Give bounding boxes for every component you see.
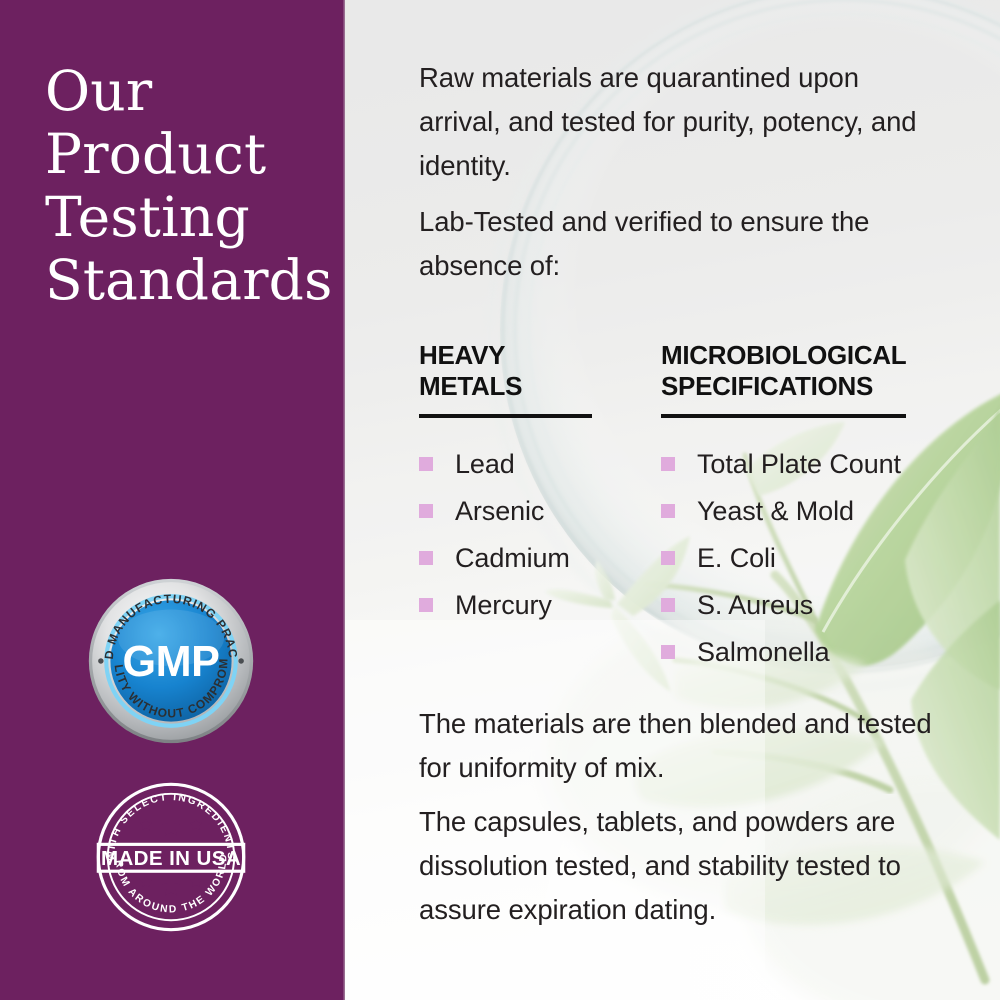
list-item-label: E. Coli <box>697 542 776 574</box>
left-purple-panel: Our Product Testing Standards <box>0 0 345 1000</box>
square-bullet-icon <box>419 457 433 471</box>
square-bullet-icon <box>419 551 433 565</box>
square-bullet-icon <box>661 504 675 518</box>
column-heavy-metals-rule <box>419 414 592 418</box>
product-testing-standards-infographic: Our Product Testing Standards <box>0 0 1000 1000</box>
square-bullet-icon <box>661 551 675 565</box>
usa-band-text: MADE IN USA <box>101 847 241 870</box>
list-item: Arsenic <box>419 487 619 534</box>
square-bullet-icon <box>419 504 433 518</box>
list-item: Yeast & Mold <box>661 487 951 534</box>
column-microbiological-title-line-1: MICROBIOLOGICAL <box>661 340 951 371</box>
usa-stars-top <box>140 818 203 836</box>
gmp-center-text: GMP <box>122 638 219 686</box>
column-heavy-metals: HEAVY METALS Lead Arsenic Cadmium <box>419 340 619 628</box>
column-microbiological-title-line-2: SPECIFICATIONS <box>661 371 951 402</box>
list-item: Salmonella <box>661 628 951 675</box>
usa-stars-bottom <box>140 875 203 895</box>
list-item: Mercury <box>419 581 619 628</box>
list-item-label: Lead <box>455 448 515 480</box>
paragraph-blended: The materials are then blended and teste… <box>419 702 937 790</box>
paragraph-raw-materials: Raw materials are quarantined upon arriv… <box>419 56 941 188</box>
paragraph-dissolution: The capsules, tablets, and powders are d… <box>419 800 937 932</box>
list-item: S. Aureus <box>661 581 951 628</box>
column-microbiological-title: MICROBIOLOGICAL SPECIFICATIONS <box>661 340 951 402</box>
square-bullet-icon <box>661 645 675 659</box>
list-item-label: Total Plate Count <box>697 448 901 480</box>
heavy-metals-list: Lead Arsenic Cadmium Mercury <box>419 440 619 628</box>
square-bullet-icon <box>661 457 675 471</box>
microbiological-list: Total Plate Count Yeast & Mold E. Coli S… <box>661 440 951 675</box>
list-item: Lead <box>419 440 619 487</box>
page-title-line-4: Standards <box>45 249 335 312</box>
list-item-label: S. Aureus <box>697 589 813 621</box>
page-title-line-3: Testing <box>45 186 335 249</box>
square-bullet-icon <box>419 598 433 612</box>
list-item: Total Plate Count <box>661 440 951 487</box>
list-item-label: Arsenic <box>455 495 544 527</box>
list-item-label: Cadmium <box>455 542 570 574</box>
list-item: Cadmium <box>419 534 619 581</box>
column-heavy-metals-title: HEAVY METALS <box>419 340 619 402</box>
gmp-badge-icon: GOOD MANUFACTURING PRACTICE QUALITY WITH… <box>88 578 254 744</box>
column-heavy-metals-title-line-1: HEAVY <box>419 340 619 371</box>
paragraph-lab-tested: Lab-Tested and verified to ensure the ab… <box>419 200 941 288</box>
content-column: Raw materials are quarantined upon arriv… <box>419 0 949 1000</box>
square-bullet-icon <box>661 598 675 612</box>
list-item: E. Coli <box>661 534 951 581</box>
page-title-line-1: Our <box>45 60 335 123</box>
column-heavy-metals-title-line-2: METALS <box>419 371 619 402</box>
made-in-usa-badge-icon: WITH SELECT INGREDIENTS FROM AROUND THE … <box>92 778 250 936</box>
list-item-label: Salmonella <box>697 636 830 668</box>
list-item-label: Mercury <box>455 589 552 621</box>
page-title-line-2: Product <box>45 123 335 186</box>
page-title: Our Product Testing Standards <box>45 60 335 312</box>
column-microbiological: MICROBIOLOGICAL SPECIFICATIONS Total Pla… <box>661 340 951 675</box>
column-microbiological-rule <box>661 414 906 418</box>
list-item-label: Yeast & Mold <box>697 495 854 527</box>
